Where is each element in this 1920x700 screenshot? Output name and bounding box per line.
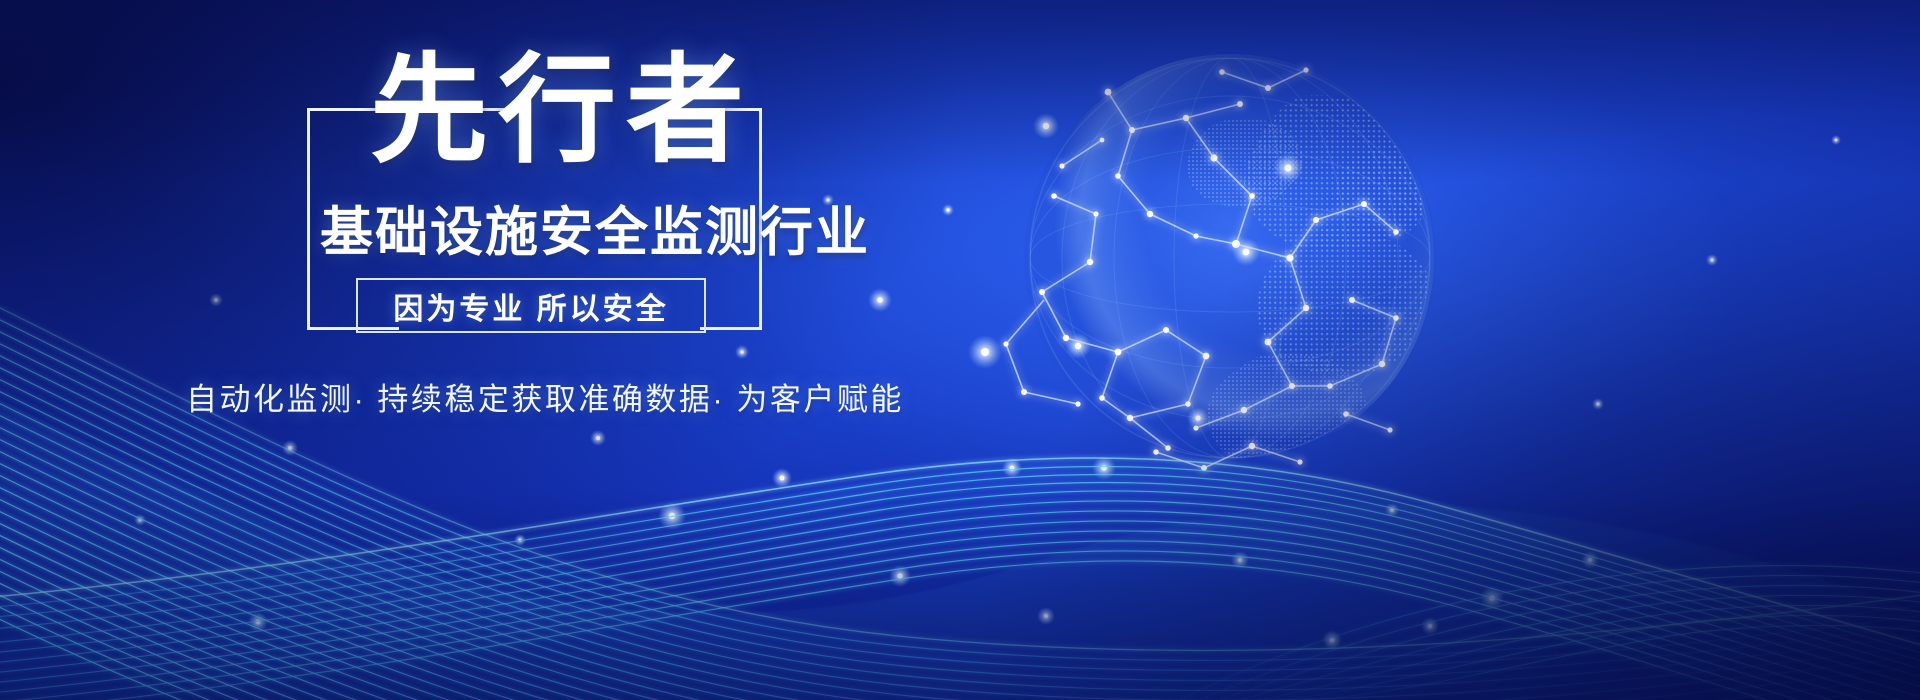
banner-subtitle: 基础设施安全监测行业 [320, 190, 870, 266]
frame-left-vertical [307, 108, 310, 330]
page-title: 先行者 [370, 52, 790, 170]
banner-tagline: 自动化监测· 持续稳定获取准确数据· 为客户赋能 [186, 374, 904, 419]
banner-text-block: 先行者 基础设施安全监测行业 因为专业 所以安全 自动化监测· 持续稳定获取准确… [0, 0, 1000, 520]
slogan-box: 因为专业 所以安全 [356, 278, 706, 333]
slogan-text: 因为专业 所以安全 [393, 284, 668, 328]
banner-root: 先行者 基础设施安全监测行业 因为专业 所以安全 自动化监测· 持续稳定获取准确… [0, 0, 1920, 700]
frame-bottom-right-horizontal [700, 327, 762, 330]
